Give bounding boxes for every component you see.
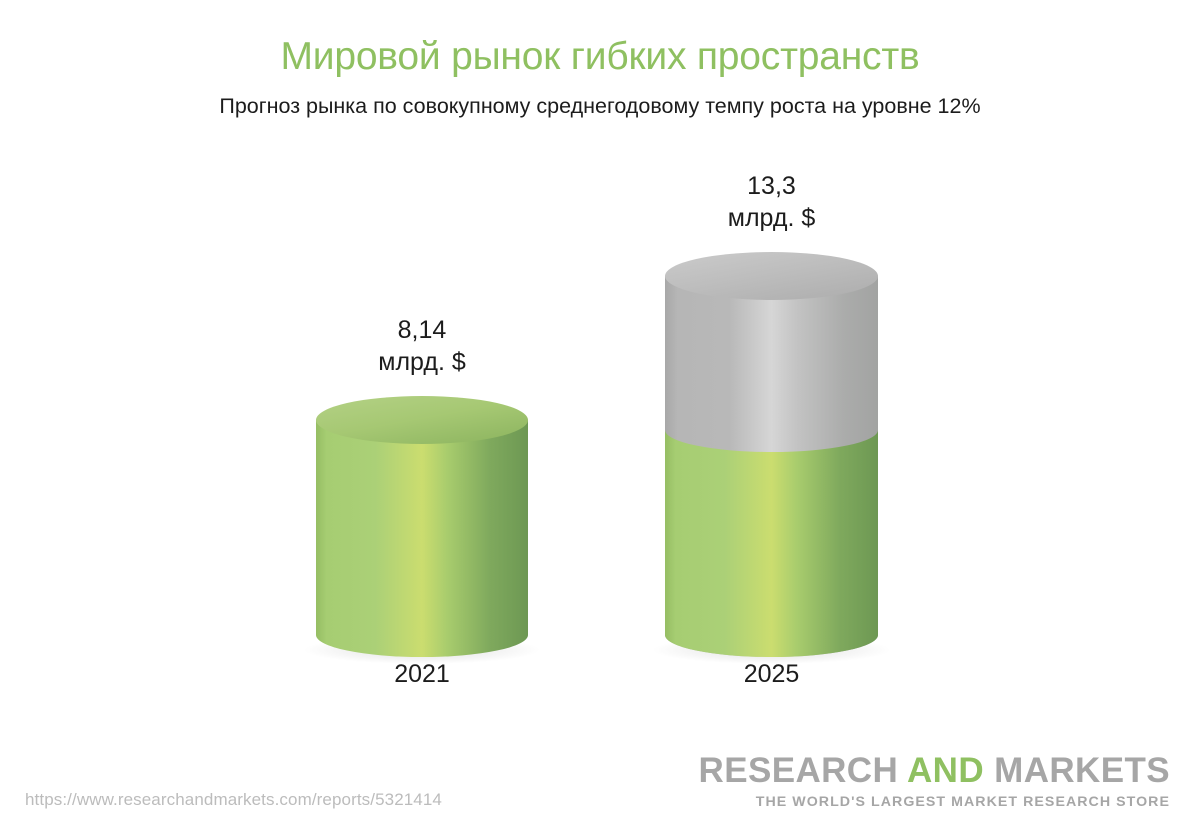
brand-name-markets: MARKETS xyxy=(984,751,1170,790)
brand-name-and: AND xyxy=(907,751,984,790)
source-url[interactable]: https://www.researchandmarkets.com/repor… xyxy=(25,790,442,810)
brand-logo: RESEARCH AND MARKETS THE WORLD'S LARGEST… xyxy=(699,753,1170,809)
bar-value-label-2025: 13,3 млрд. $ xyxy=(665,170,878,234)
cylinder-bar-chart-graphic xyxy=(0,0,1200,835)
bar-cylinder-2025[interactable] xyxy=(665,252,878,660)
bar-cylinder-2021[interactable] xyxy=(316,396,528,657)
chart-plot-area: 8,14 млрд. $ 13,3 млрд. $ 2021 2025 xyxy=(0,0,1200,835)
brand-name: RESEARCH AND MARKETS xyxy=(699,753,1170,788)
bar-2021-unit: млрд. $ xyxy=(316,346,528,378)
bar-value-label-2021: 8,14 млрд. $ xyxy=(316,314,528,378)
bar-2025-top-cap xyxy=(665,252,878,300)
brand-name-research: RESEARCH xyxy=(699,751,907,790)
bar-2021-body xyxy=(316,420,528,657)
bar-2025-value: 13,3 xyxy=(665,170,878,202)
bar-2021-top-cap xyxy=(316,396,528,444)
x-axis-label-2021: 2021 xyxy=(316,662,528,687)
bar-2021-value: 8,14 xyxy=(316,314,528,346)
x-axis-label-2025: 2025 xyxy=(665,662,878,687)
brand-tagline: THE WORLD'S LARGEST MARKET RESEARCH STOR… xyxy=(699,795,1170,809)
bar-2025-unit: млрд. $ xyxy=(665,202,878,234)
bar-2025-green-segment xyxy=(665,430,878,660)
